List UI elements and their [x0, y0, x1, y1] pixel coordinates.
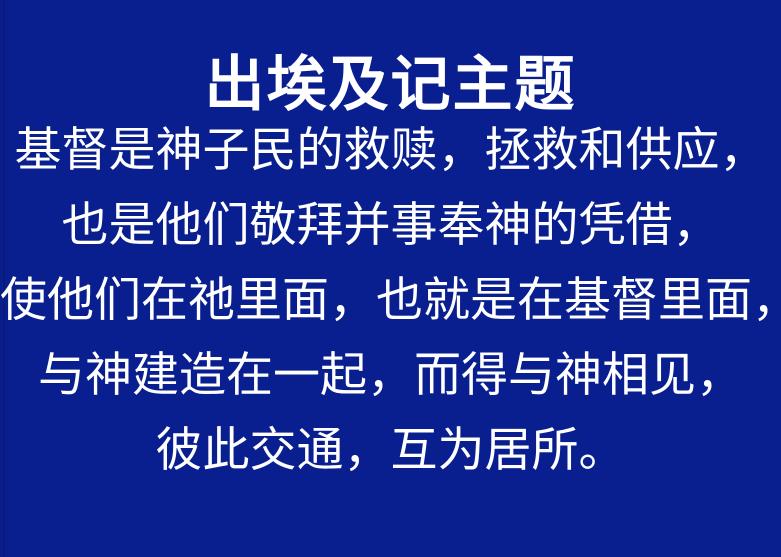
slide-body: 基督是神子民的救赎，拯救和供应， 也是他们敬拜并事奉神的凭借， 使他们在祂里面，… [0, 113, 781, 488]
body-line-3: 使他们在祂里面，也就是在基督里面， [0, 263, 781, 338]
body-line-2: 也是他们敬拜并事奉神的凭借， [0, 188, 781, 263]
body-line-1: 基督是神子民的救赎，拯救和供应， [0, 113, 781, 188]
slide-title: 出埃及记主题 [0, 48, 781, 122]
body-line-5: 彼此交通，互为居所。 [0, 413, 781, 488]
presentation-slide: 出埃及记主题 基督是神子民的救赎，拯救和供应， 也是他们敬拜并事奉神的凭借， 使… [0, 0, 781, 557]
body-line-4: 与神建造在一起，而得与神相见， [0, 338, 781, 413]
